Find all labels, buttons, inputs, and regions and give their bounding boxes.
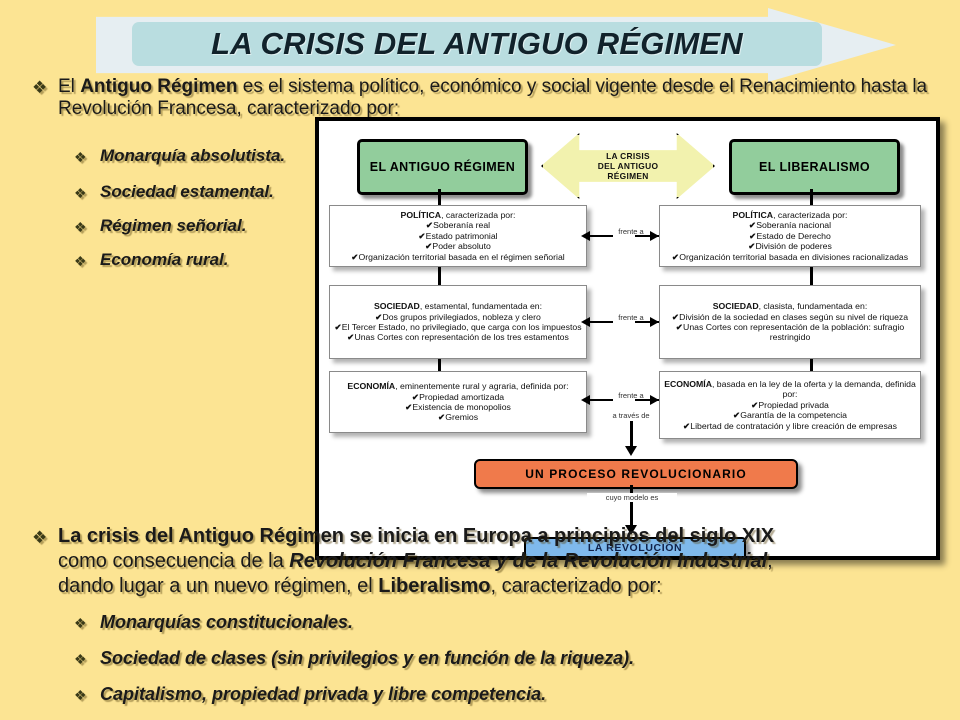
connector-line [810, 189, 813, 205]
connector-line [438, 267, 441, 285]
box-item: ✔Gremios [347, 412, 568, 422]
diagram-box-sociedad-left: SOCIEDAD, estamental, fundamentada en: ✔… [329, 285, 587, 359]
conclusion-item-label: Monarquías constitucionales. [100, 612, 353, 632]
box-item: ✔Estado de Derecho [672, 231, 908, 241]
intro-item-label: Economía rural. [100, 250, 228, 270]
list-item: ❖ Capitalismo, propiedad privada y libre… [74, 684, 546, 704]
intro-paragraph-text: El Antiguo Régimen es el sistema polític… [58, 76, 932, 120]
box-item-label: El Tercer Estado, no privilegiado, que c… [342, 322, 582, 332]
box-item-label: Organización territorial basada en el ré… [359, 252, 565, 262]
connector-line [438, 189, 441, 205]
conclusion-paragraph-text: La crisis del Antiguo Régimen se inicia … [58, 524, 947, 599]
box-item-label: Estado de Derecho [756, 231, 830, 241]
diagram-box-economia-left: ECONOMÍA, eminentemente rural y agraria,… [329, 371, 587, 433]
bullet-glyph-icon: ❖ [74, 147, 87, 167]
connector-line [630, 485, 633, 529]
box-item: ✔División de poderes [672, 241, 908, 251]
conclusion-line1: La crisis del Antiguo Régimen se inicia … [58, 525, 774, 547]
box-heading-rest: , estamental, fundamentada en: [420, 301, 542, 311]
box-item: ✔Existencia de monopolios [347, 402, 568, 412]
box-heading-bold: ECONOMÍA [347, 381, 395, 391]
check-icon: ✔ [351, 252, 358, 262]
connector-label-cuyo-modelo-es: cuyo modelo es [587, 493, 677, 502]
diagram-box-politica-left: POLÍTICA, caracterizada por: ✔Soberanía … [329, 205, 587, 267]
arrow-right-icon [650, 395, 659, 405]
box-item-label: Unas Cortes con representación de la pob… [683, 322, 904, 342]
list-item: ❖ Sociedad de clases (sin privilegios y … [74, 648, 634, 668]
bullet-glyph-icon: ❖ [74, 649, 87, 669]
box-item: ✔Libertad de contratación y libre creaci… [664, 421, 916, 431]
box-item-label: Propiedad privada [758, 400, 829, 410]
box-item: ✔División de la sociedad en clases según… [664, 312, 916, 322]
bullet-glyph-icon: ❖ [74, 251, 87, 271]
conclusion-line2-b: , [767, 550, 773, 572]
box-heading-bold: SOCIEDAD [713, 301, 759, 311]
arrow-left-icon [581, 317, 590, 327]
page-title: LA CRISIS DEL ANTIGUO RÉGIMEN [211, 26, 743, 62]
diagram-box-content: SOCIEDAD, estamental, fundamentada en: ✔… [334, 301, 581, 343]
conclusion-paragraph: ❖ La crisis del Antiguo Régimen se inici… [32, 524, 947, 599]
diagram-box-proceso-revolucionario: UN PROCESO REVOLUCIONARIO [474, 459, 798, 489]
diagram-box-content: POLÍTICA, caracterizada por: ✔Soberanía … [672, 210, 908, 262]
conclusion-line2-italic: Revolución Francesa y de la Revolución I… [289, 550, 767, 572]
conclusion-line3-bold: Liberalismo [378, 575, 490, 597]
box-item: ✔Organización territorial basada en divi… [672, 252, 908, 262]
diagram-box-label: EL LIBERALISMO [759, 160, 870, 174]
box-item: ✔Propiedad privada [664, 400, 916, 410]
box-heading-rest: , caracterizada por: [441, 210, 515, 220]
box-heading-rest: , caracterizada por: [773, 210, 847, 220]
box-heading-bold: POLÍTICA [401, 210, 442, 220]
box-item: ✔Poder absoluto [351, 241, 564, 251]
conclusion-line3-a: dando lugar a un nuevo régimen, el [58, 575, 378, 597]
connector-label-a-traves-de: a través de [595, 411, 667, 420]
intro-bold-term: Antiguo Régimen [80, 76, 237, 97]
box-item: ✔Unas Cortes con representación de la po… [664, 322, 916, 343]
list-item: ❖ Monarquías constitucionales. [74, 612, 353, 632]
box-heading-rest: , eminentemente rural y agraria, definid… [395, 381, 568, 391]
diagram-box-liberalismo: EL LIBERALISMO [729, 139, 900, 195]
box-item: ✔Soberanía nacional [672, 220, 908, 230]
box-heading-rest: , basada en la ley de la oferta y la dem… [712, 379, 916, 399]
intro-part1: El [58, 76, 80, 97]
box-heading-bold: SOCIEDAD [374, 301, 420, 311]
check-icon: ✔ [418, 231, 425, 241]
box-item-label: Soberanía nacional [756, 220, 831, 230]
diagram-box-content: SOCIEDAD, clasista, fundamentada en: ✔Di… [664, 301, 916, 343]
diagram-box-politica-right: POLÍTICA, caracterizada por: ✔Soberanía … [659, 205, 921, 267]
arrow-left-icon [581, 231, 590, 241]
diagram-crisis-double-arrow: LA CRISIS DEL ANTIGUO RÉGIMEN [541, 133, 715, 199]
box-item-label: Propiedad amortizada [419, 392, 504, 402]
box-heading-bold: POLÍTICA [733, 210, 774, 220]
conclusion-item-label: Capitalismo, propiedad privada y libre c… [100, 684, 546, 704]
box-item: ✔Organización territorial basada en el r… [351, 252, 564, 262]
box-item-label: Gremios [445, 412, 478, 422]
bullet-glyph-icon: ❖ [32, 77, 47, 99]
box-item-label: Dos grupos privilegiados, nobleza y cler… [382, 312, 540, 322]
arrow-right-icon [650, 231, 659, 241]
bullet-glyph-icon: ❖ [74, 183, 87, 203]
diagram-box-label: UN PROCESO REVOLUCIONARIO [525, 467, 747, 481]
box-item-label: Libertad de contratación y libre creació… [690, 421, 897, 431]
list-item: ❖ Economía rural. [74, 250, 228, 270]
box-item: ✔Propiedad amortizada [347, 392, 568, 402]
box-item-label: Organización territorial basada en divis… [679, 252, 908, 262]
arrow-down-icon [625, 446, 637, 456]
conclusion-item-label: Sociedad de clases (sin privilegios y en… [100, 648, 634, 668]
box-item: ✔Garantía de la competencia [664, 410, 916, 420]
arrow-left-icon [581, 395, 590, 405]
slide-canvas: LA CRISIS DEL ANTIGUO RÉGIMEN ❖ El Antig… [0, 0, 960, 720]
bullet-glyph-icon: ❖ [32, 525, 47, 550]
bullet-glyph-icon: ❖ [74, 613, 87, 633]
diagram-box-economia-right: ECONOMÍA, basada en la ley de la oferta … [659, 371, 921, 439]
box-item: ✔Dos grupos privilegiados, nobleza y cle… [334, 312, 581, 322]
crisis-line-3: RÉGIMEN [598, 171, 659, 181]
box-item-label: Garantía de la competencia [740, 410, 847, 420]
list-item: ❖ Sociedad estamental. [74, 182, 274, 202]
box-item: ✔Unas Cortes con representación de los t… [334, 332, 581, 342]
box-item-label: Existencia de monopolios [412, 402, 511, 412]
box-heading-bold: ECONOMÍA [664, 379, 712, 389]
box-item-label: Soberanía real [433, 220, 490, 230]
box-item: ✔El Tercer Estado, no privilegiado, que … [334, 322, 581, 332]
box-item-label: Unas Cortes con representación de los tr… [354, 332, 568, 342]
box-item-label: Estado patrimonial [426, 231, 498, 241]
arrow-right-icon [650, 317, 659, 327]
diagram-box-sociedad-right: SOCIEDAD, clasista, fundamentada en: ✔Di… [659, 285, 921, 359]
intro-paragraph: ❖ El Antiguo Régimen es el sistema polít… [32, 76, 932, 120]
diagram-box-antiguo-regimen: EL ANTIGUO RÉGIMEN [357, 139, 528, 195]
crisis-line-1: LA CRISIS [598, 151, 659, 161]
intro-item-label: Monarquía absolutista. [100, 146, 285, 166]
concept-diagram-image: EL ANTIGUO RÉGIMEN LA CRISIS DEL ANTIGUO… [315, 117, 940, 560]
intro-item-label: Régimen señorial. [100, 216, 246, 236]
box-item-label: División de poderes [755, 241, 831, 251]
bullet-glyph-icon: ❖ [74, 685, 87, 705]
conclusion-line3-b: , caracterizado por: [491, 575, 662, 597]
connector-line [630, 421, 633, 449]
box-item: ✔Soberanía real [351, 220, 564, 230]
connector-line [810, 267, 813, 285]
list-item: ❖ Monarquía absolutista. [74, 146, 285, 166]
conclusion-line2-a: como consecuencia de la [58, 550, 289, 572]
diagram-crisis-arrow-label: LA CRISIS DEL ANTIGUO RÉGIMEN [598, 151, 659, 181]
box-item-label: Poder absoluto [432, 241, 490, 251]
diagram-box-content: ECONOMÍA, basada en la ley de la oferta … [664, 379, 916, 431]
bullet-glyph-icon: ❖ [74, 217, 87, 237]
check-icon: ✔ [334, 322, 341, 332]
intro-item-label: Sociedad estamental. [100, 182, 274, 202]
box-item: ✔Estado patrimonial [351, 231, 564, 241]
box-item-label: División de la sociedad en clases según … [679, 312, 908, 322]
diagram-box-content: ECONOMÍA, eminentemente rural y agraria,… [347, 381, 568, 423]
box-heading-rest: , clasista, fundamentada en: [759, 301, 868, 311]
diagram-box-content: POLÍTICA, caracterizada por: ✔Soberanía … [351, 210, 564, 262]
check-icon: ✔ [676, 322, 683, 332]
diagram-box-label: EL ANTIGUO RÉGIMEN [370, 160, 515, 174]
title-banner: LA CRISIS DEL ANTIGUO RÉGIMEN [132, 22, 822, 66]
crisis-line-2: DEL ANTIGUO [598, 161, 659, 171]
list-item: ❖ Régimen señorial. [74, 216, 246, 236]
